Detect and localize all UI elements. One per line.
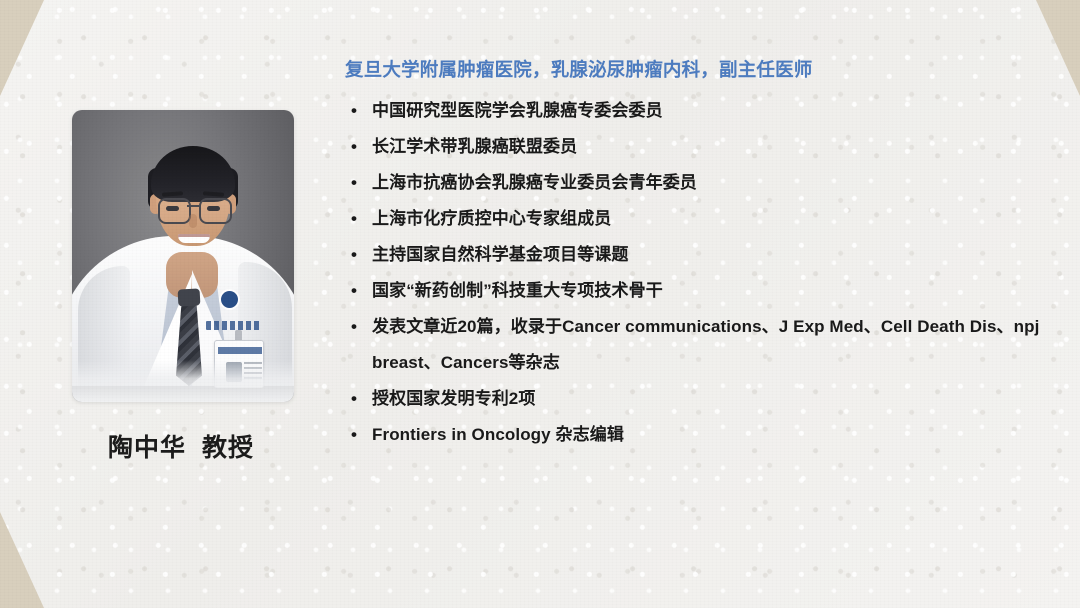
- presentation-slide: 陶中华 教授 复旦大学附属肿瘤医院，乳腺泌尿肿瘤内科，副主任医师 •中国研究型医…: [0, 0, 1080, 608]
- bullet-marker-icon: •: [351, 165, 357, 201]
- credential-text: 上海市化疗质控中心专家组成员: [372, 201, 1045, 237]
- credential-item: •主持国家自然科学基金项目等课题: [345, 237, 1045, 273]
- bullet-marker-icon: •: [351, 309, 357, 345]
- eyeglasses-bridge: [187, 205, 199, 207]
- credential-text: 中国研究型医院学会乳腺癌专委会委员: [372, 93, 1045, 129]
- eyeglasses-lens-left: [158, 198, 191, 224]
- credential-item: •上海市化疗质控中心专家组成员: [345, 201, 1045, 237]
- speaker-name: 陶中华 教授: [46, 428, 316, 464]
- id-badge-header: [218, 347, 262, 354]
- credential-item: •Frontiers in Oncology 杂志编辑: [345, 417, 1045, 453]
- hospital-emblem-icon: [221, 291, 238, 308]
- bullet-marker-icon: •: [351, 417, 357, 453]
- coat-embroidered-text: [206, 321, 260, 330]
- bullet-marker-icon: •: [351, 237, 357, 273]
- eyeglasses-lens-right: [199, 198, 232, 224]
- nose: [189, 214, 197, 228]
- portrait-photo: [72, 110, 294, 402]
- credential-item: •上海市抗癌协会乳腺癌专业委员会青年委员: [345, 165, 1045, 201]
- mouth: [178, 234, 210, 243]
- necktie-knot: [178, 288, 201, 306]
- credential-text: Frontiers in Oncology 杂志编辑: [372, 417, 1045, 453]
- credential-item: •国家“新药创制”科技重大专项技术骨干: [345, 273, 1045, 309]
- credential-text: 主持国家自然科学基金项目等课题: [372, 237, 1045, 273]
- bullet-marker-icon: •: [351, 129, 357, 165]
- credential-text: 国家“新药创制”科技重大专项技术骨干: [372, 273, 1045, 309]
- photo-floor-reflection: [72, 360, 294, 402]
- credential-item: •长江学术带乳腺癌联盟委员: [345, 129, 1045, 165]
- credential-text: 发表文章近20篇，收录于Cancer communications、J Exp …: [372, 309, 1045, 381]
- bullet-marker-icon: •: [351, 93, 357, 129]
- credential-text: 授权国家发明专利2项: [372, 381, 1045, 417]
- corner-decoration-top-left: [0, 0, 44, 96]
- bullet-marker-icon: •: [351, 273, 357, 309]
- corner-decoration-bottom-left: [0, 512, 44, 608]
- bullet-marker-icon: •: [351, 381, 357, 417]
- profile-column: 陶中华 教授: [46, 96, 316, 496]
- credential-text: 长江学术带乳腺癌联盟委员: [372, 129, 1045, 165]
- credential-item: •发表文章近20篇，收录于Cancer communications、J Exp…: [345, 309, 1045, 381]
- credentials-column: 复旦大学附属肿瘤医院，乳腺泌尿肿瘤内科，副主任医师 •中国研究型医院学会乳腺癌专…: [345, 58, 1045, 453]
- affiliation-headline: 复旦大学附属肿瘤医院，乳腺泌尿肿瘤内科，副主任医师: [345, 58, 1045, 83]
- bullet-marker-icon: •: [351, 201, 357, 237]
- credentials-list: •中国研究型医院学会乳腺癌专委会委员•长江学术带乳腺癌联盟委员•上海市抗癌协会乳…: [345, 93, 1045, 453]
- credential-text: 上海市抗癌协会乳腺癌专业委员会青年委员: [372, 165, 1045, 201]
- credential-item: •授权国家发明专利2项: [345, 381, 1045, 417]
- credential-item: •中国研究型医院学会乳腺癌专委会委员: [345, 93, 1045, 129]
